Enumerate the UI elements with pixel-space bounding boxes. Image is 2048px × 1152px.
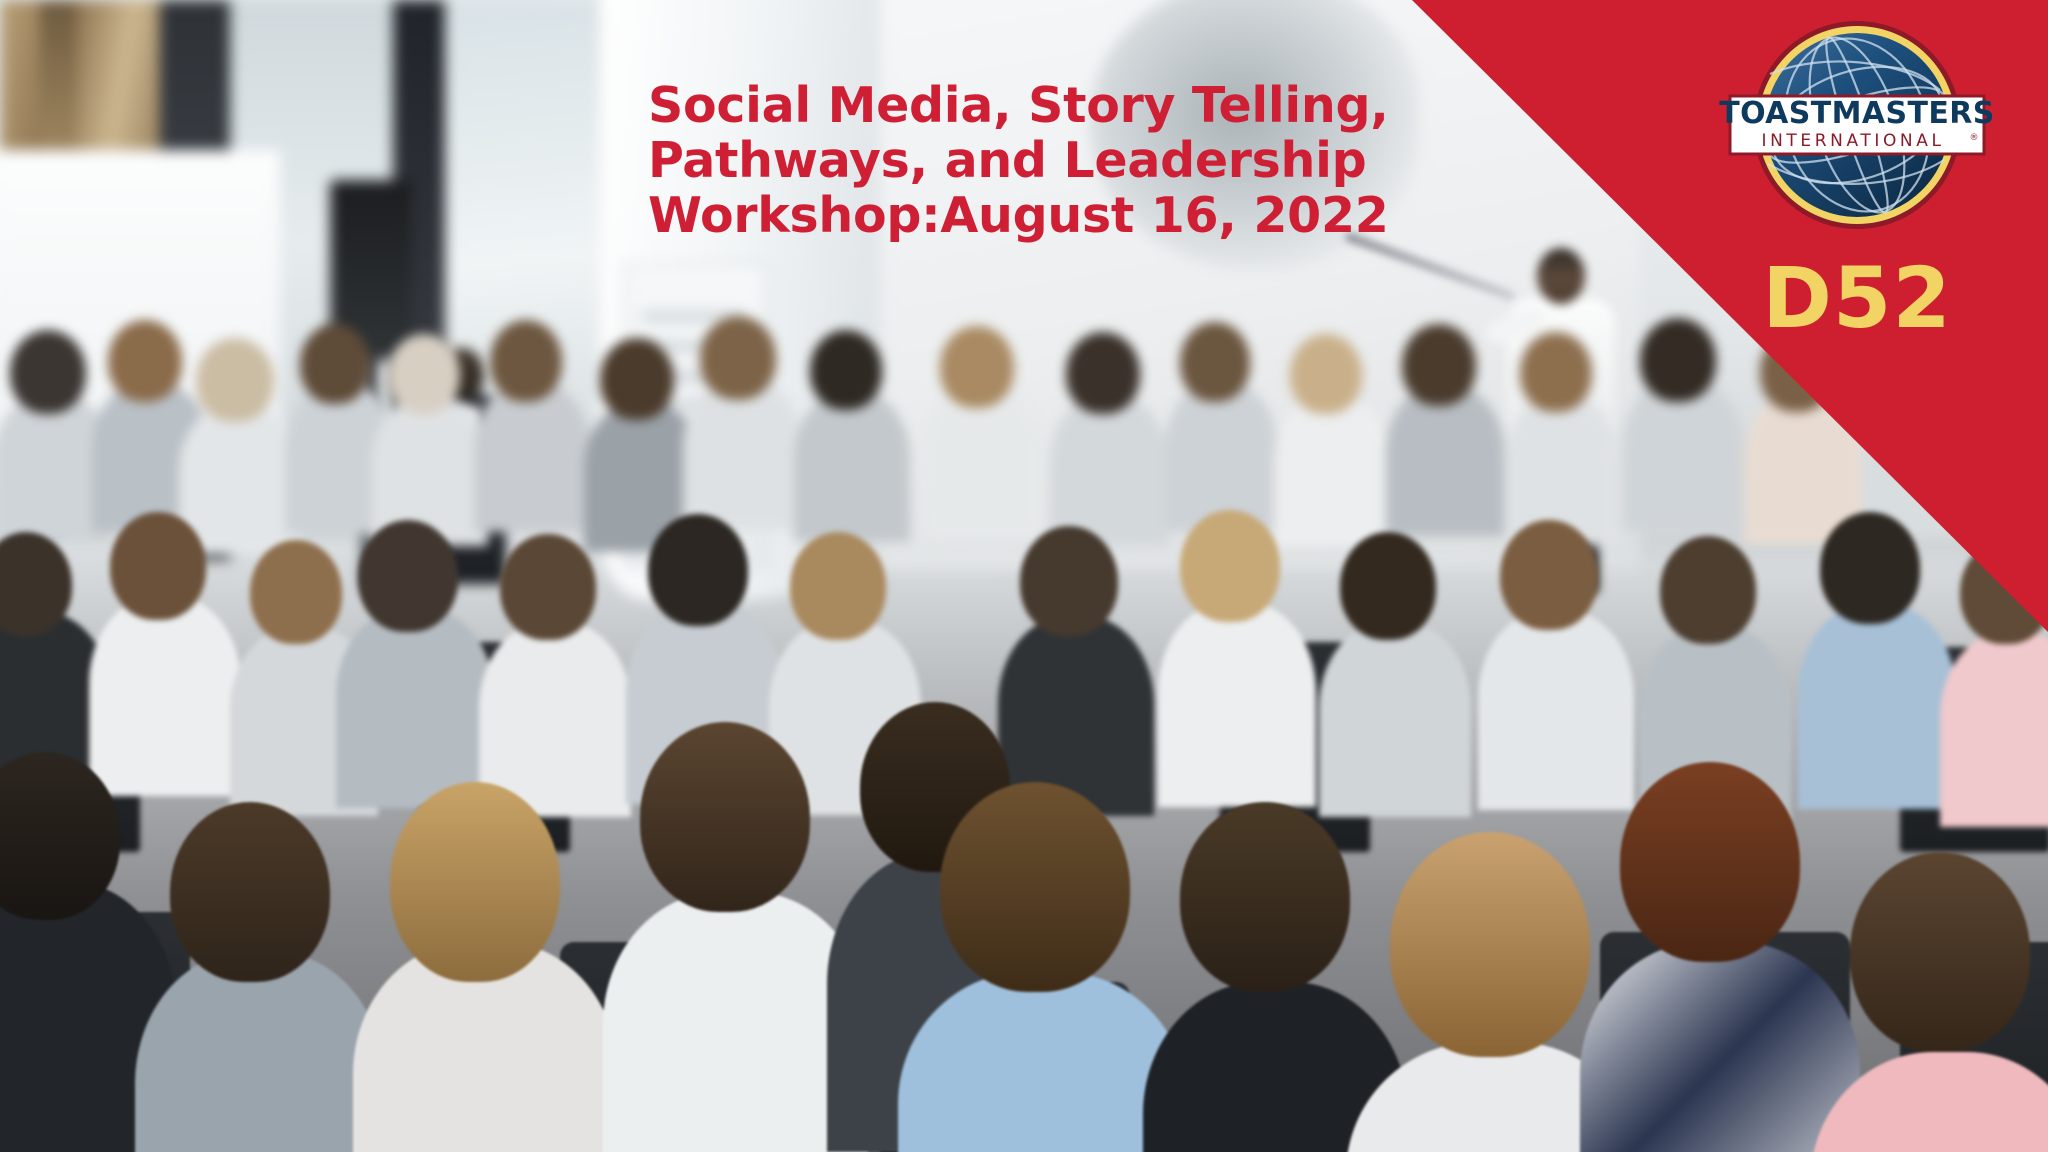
event-poster: TOASTMASTERS INTERNATIONAL ® D52 Social …	[0, 0, 2048, 1152]
audience-member	[1180, 322, 1250, 512]
audience-member	[700, 316, 776, 506]
toastmasters-logo: TOASTMASTERS INTERNATIONAL ®	[1712, 12, 2002, 242]
logo-subtitle: INTERNATIONAL	[1761, 131, 1944, 151]
audience	[0, 452, 2048, 1152]
audience-member	[640, 722, 810, 1142]
audience-row-front	[0, 692, 2048, 1152]
audience-member	[1620, 762, 1800, 1152]
logo-wordmark: TOASTMASTERS	[1719, 96, 1995, 131]
audience-member	[1402, 324, 1476, 514]
audience-member	[170, 802, 330, 1152]
audience-member	[108, 320, 182, 510]
audience-member	[940, 326, 1014, 516]
audience-member	[1640, 318, 1716, 508]
title-line-1: Social Media, Story Telling,	[648, 78, 1548, 133]
audience-member	[1850, 852, 2030, 1152]
audience-member	[1180, 802, 1350, 1152]
audience-member	[940, 782, 1130, 1152]
audience-member	[390, 782, 560, 1152]
logo-registered-mark: ®	[1970, 133, 1979, 143]
audience-member	[490, 320, 562, 510]
district-badge: D52	[1712, 256, 2002, 340]
title-line-2: Pathways, and Leadership	[648, 133, 1548, 188]
audience-member	[300, 324, 370, 514]
audience-member	[1390, 832, 1590, 1152]
event-title: Social Media, Story Telling, Pathways, a…	[648, 78, 1548, 243]
audience-member	[0, 752, 120, 1152]
title-line-3: Workshop:August 16, 2022	[648, 188, 1548, 243]
